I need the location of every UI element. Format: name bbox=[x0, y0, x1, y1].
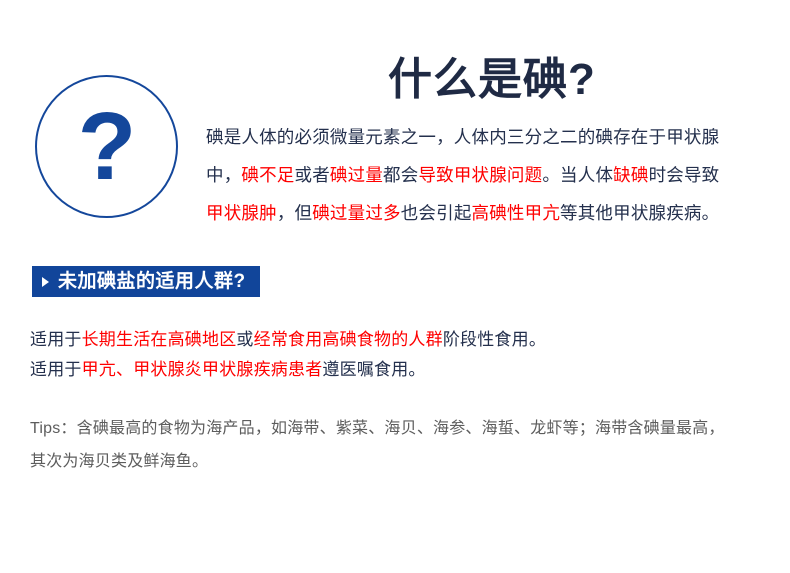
highlighted-text: 高碘性甲亢 bbox=[472, 203, 561, 223]
plain-text: 等其他甲状腺疾病。 bbox=[560, 203, 719, 223]
tips-line: 其次为海贝类及鲜海鱼。 bbox=[30, 445, 780, 478]
page-title: 什么是碘? bbox=[207, 56, 777, 104]
intro-line: 甲状腺肿，但碘过量过多也会引起高碘性甲亢等其他甲状腺疾病。 bbox=[206, 194, 780, 232]
applicable-groups-line: 适用于甲亢、甲状腺炎甲状腺疾病患者遵医嘱食用。 bbox=[30, 355, 770, 385]
section-banner-label: 未加碘盐的适用人群? bbox=[58, 272, 246, 291]
tips-note: Tips：含碘最高的食物为海产品，如海带、紫菜、海贝、海参、海蜇、龙虾等；海带含… bbox=[30, 412, 780, 478]
highlighted-text: 碘不足 bbox=[241, 165, 294, 185]
highlighted-text: 缺碘 bbox=[613, 165, 648, 185]
plain-text: 或者 bbox=[295, 165, 330, 185]
applicable-groups-list: 适用于长期生活在高碘地区或经常食用高碘食物的人群阶段性食用。 适用于甲亢、甲状腺… bbox=[30, 325, 770, 385]
plain-text: 中， bbox=[206, 165, 241, 185]
highlighted-text: 碘过量 bbox=[330, 165, 383, 185]
highlighted-text: 经常食用高碘食物的人群 bbox=[254, 330, 443, 349]
plain-text: 或 bbox=[236, 330, 253, 349]
plain-text: 适用于 bbox=[30, 360, 82, 379]
tips-line: Tips：含碘最高的食物为海产品，如海带、紫菜、海贝、海参、海蜇、龙虾等；海带含… bbox=[30, 412, 780, 445]
plain-text: ，但 bbox=[277, 203, 312, 223]
highlighted-text: 甲亢、甲状腺炎甲状腺疾病患者 bbox=[82, 360, 323, 379]
infographic-page: ? 什么是碘? 碘是人体的必须微量元素之一，人体内三分之二的碘存在于甲状腺 中，… bbox=[0, 0, 790, 573]
plain-text: 碘是人体的必须微量元素之一，人体内三分之二的碘存在于甲状腺 bbox=[206, 127, 719, 147]
question-mark-icon: ? bbox=[37, 99, 176, 195]
highlighted-text: 导致甲状腺问题 bbox=[418, 165, 542, 185]
intro-line: 碘是人体的必须微量元素之一，人体内三分之二的碘存在于甲状腺 bbox=[206, 118, 780, 156]
highlighted-text: 长期生活在高碘地区 bbox=[82, 330, 237, 349]
plain-text: 。当人体 bbox=[542, 165, 613, 185]
intro-line: 中，碘不足或者碘过量都会导致甲状腺问题。当人体缺碘时会导致 bbox=[206, 156, 780, 194]
intro-paragraph: 碘是人体的必须微量元素之一，人体内三分之二的碘存在于甲状腺 中，碘不足或者碘过量… bbox=[206, 118, 780, 232]
section-banner: 未加碘盐的适用人群? bbox=[32, 266, 260, 297]
plain-text: 阶段性食用。 bbox=[443, 330, 546, 349]
plain-text: 都会 bbox=[383, 165, 418, 185]
plain-text: 适用于 bbox=[30, 330, 82, 349]
triangle-right-icon bbox=[42, 277, 49, 287]
plain-text: 时会导致 bbox=[649, 165, 720, 185]
plain-text: 遵医嘱食用。 bbox=[322, 360, 425, 379]
applicable-groups-line: 适用于长期生活在高碘地区或经常食用高碘食物的人群阶段性食用。 bbox=[30, 325, 770, 355]
question-mark-badge: ? bbox=[35, 75, 178, 218]
plain-text: 也会引起 bbox=[401, 203, 472, 223]
highlighted-text: 甲状腺肿 bbox=[206, 203, 277, 223]
highlighted-text: 碘过量过多 bbox=[312, 203, 401, 223]
